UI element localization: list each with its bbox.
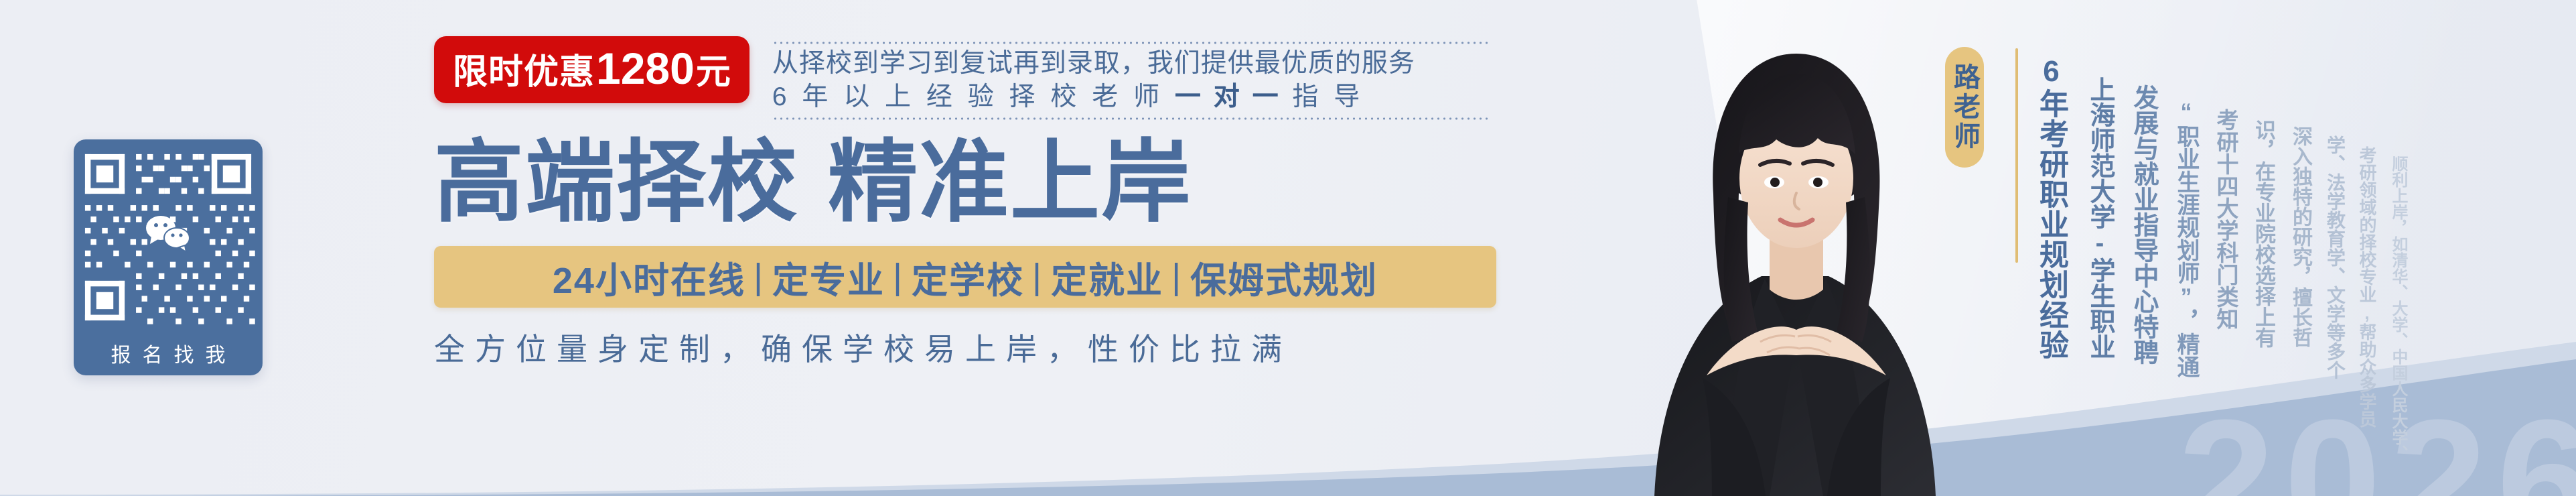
service-item-1: 定专业 [772, 251, 885, 304]
dotted-rule-bottom [772, 117, 1489, 120]
sub-headline-2: 6 年 以 上 经 验 择 校 老 师 一 对 一 指 导 [772, 80, 1489, 115]
bio-column-5: 识，在专业院校选择上有 [2248, 24, 2279, 348]
promo-amount: 1280 [595, 43, 696, 94]
qr-code-block[interactable]: 报名找我 [74, 139, 263, 375]
bio-column-6: 深入独特的研究，擅长哲 [2285, 24, 2315, 347]
bio-column-9: 顺利上岸，如清华、大学、中国人民大学、 [2386, 24, 2410, 461]
sub-headline-2-before: 6 年 以 上 经 验 择 校 老 师 [772, 82, 1175, 111]
teacher-name: 路老师 [1945, 63, 1984, 151]
dotted-rule-top [772, 42, 1489, 44]
bio-column-4: 考研十四大学科门类知 [2210, 24, 2242, 330]
service-item-3: 定就业 [1051, 251, 1163, 304]
sub-headline-block: 从择校到学习到复试再到录取，我们提供最优质的服务 6 年 以 上 经 验 择 校… [772, 36, 1489, 124]
service-list-bar: 24小时在线 | 定专业 | 定学校 | 定就业 | 保姆式规划 [434, 246, 1496, 308]
headline-part-1: 高端择校 [434, 133, 798, 233]
teacher-name-pill: 路老师 [1945, 47, 1984, 168]
promo-row: 限时优惠 1280 元 从择校到学习到复试再到录取，我们提供最优质的服务 6 年… [434, 36, 1566, 124]
bio-column-1: 上海师范大学-学生职业 [2082, 24, 2119, 359]
main-copy-column: 限时优惠 1280 元 从择校到学习到复试再到录取，我们提供最优质的服务 6 年… [434, 36, 1566, 369]
wechat-icon [143, 213, 193, 253]
bio-column-7: 学、法学教育学、文学等多个 [2321, 24, 2348, 379]
teacher-portrait [1628, 27, 1949, 496]
gold-vertical-rule [2015, 48, 2018, 263]
promo-prefix: 限时优惠 [453, 44, 595, 94]
bio-column-0: 6年考研职业规划经验 [2029, 24, 2072, 360]
promo-banner: 2026 [0, 0, 2576, 496]
headline-part-2: 精准上岸 [828, 133, 1192, 233]
bottom-tagline: 全方位量身定制，确保学校易上岸，性价比拉满 [434, 325, 1566, 369]
sub-headline-2-emphasis: 一 对 一 [1175, 82, 1281, 111]
bio-column-2: 发展与就业指导中心特聘 [2125, 24, 2162, 365]
page-title: 高端择校精准上岸 [434, 135, 1566, 232]
service-separator-2: | [1024, 256, 1051, 298]
bio-column-3: “职业生涯规划师”，精通 [2170, 24, 2203, 378]
teacher-bio-columns: 6年考研职业规划经验 上海师范大学-学生职业 发展与就业指导中心特聘 “职业生涯… [2029, 24, 2565, 426]
qr-code-label: 报名找我 [74, 340, 263, 371]
sub-headline-2-after: 指 导 [1281, 82, 1364, 111]
service-separator-0: | [745, 256, 772, 298]
promo-unit: 元 [696, 44, 731, 94]
sub-headline-1: 从择校到学习到复试再到录取，我们提供最优质的服务 [772, 48, 1489, 79]
service-separator-3: | [1163, 256, 1190, 298]
service-item-2: 定学校 [912, 251, 1024, 304]
service-separator-1: | [885, 256, 912, 298]
service-item-0: 24小时在线 [553, 251, 745, 304]
service-item-4: 保姆式规划 [1190, 251, 1378, 304]
promo-price-tag: 限时优惠 1280 元 [434, 36, 749, 103]
bio-column-8: 考研领域的择校专业,帮助众多学员 [2355, 24, 2380, 428]
